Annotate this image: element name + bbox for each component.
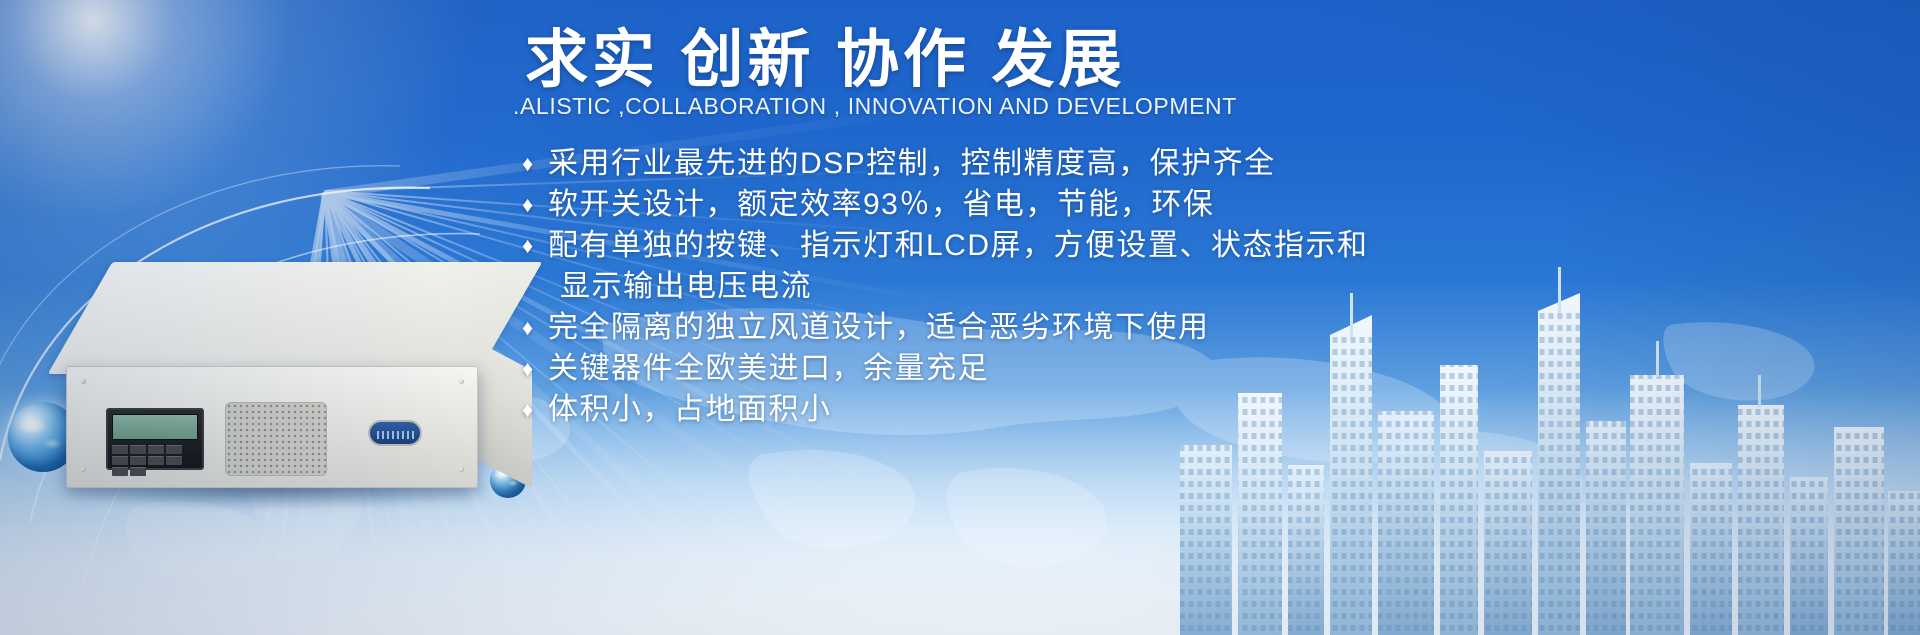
diamond-bullet-icon: ♦ [522, 143, 546, 184]
diamond-bullet-icon: ♦ [522, 184, 546, 225]
feature-bullet: ♦关键器件全欧美进口，余量充足 [522, 348, 1472, 389]
diamond-bullet-icon: ♦ [522, 225, 546, 266]
feature-bullet-text: 关键器件全欧美进口，余量充足 [548, 348, 989, 389]
banner-subheadline: .ALISTIC ,COLLABORATION , INNOVATION AND… [513, 93, 1237, 120]
feature-bullet: ♦软开关设计，额定效率93％，省电，节能，环保 [522, 184, 1472, 225]
feature-bullet: ♦显示输出电压电流 [522, 266, 1472, 307]
feature-bullet-text: 显示输出电压电流 [560, 266, 812, 307]
feature-bullet: ♦完全隔离的独立风道设计，适合恶劣环境下使用 [522, 307, 1472, 348]
feature-bullet: ♦体积小，占地面积小 [522, 389, 1472, 430]
diamond-bullet-icon: ♦ [522, 307, 546, 348]
feature-bullet-text: 采用行业最先进的DSP控制，控制精度高，保护齐全 [548, 143, 1276, 184]
feature-bullet-text: 体积小，占地面积小 [548, 389, 832, 430]
feature-bullet: ♦配有单独的按键、指示灯和LCD屏，方便设置、状态指示和 [522, 225, 1472, 266]
feature-bullet-text: 配有单独的按键、指示灯和LCD屏，方便设置、状态指示和 [548, 225, 1369, 266]
diamond-bullet-icon: ♦ [522, 389, 546, 430]
feature-bullet-text: 软开关设计，额定效率93％，省电，节能，环保 [548, 184, 1214, 225]
banner-headline: 求实 创新 协作 发展 [525, 26, 1126, 94]
banner-content: 求实 创新 协作 发展 .ALISTIC ,COLLABORATION , IN… [0, 0, 1920, 635]
feature-bullet: ♦采用行业最先进的DSP控制，控制精度高，保护齐全 [522, 143, 1472, 184]
feature-bullet-list: ♦采用行业最先进的DSP控制，控制精度高，保护齐全♦软开关设计，额定效率93％，… [522, 143, 1472, 430]
feature-bullet-text: 完全隔离的独立风道设计，适合恶劣环境下使用 [548, 307, 1210, 348]
promotional-banner: 求实 创新 协作 发展 .ALISTIC ,COLLABORATION , IN… [0, 0, 1920, 635]
diamond-bullet-icon: ♦ [522, 348, 546, 389]
